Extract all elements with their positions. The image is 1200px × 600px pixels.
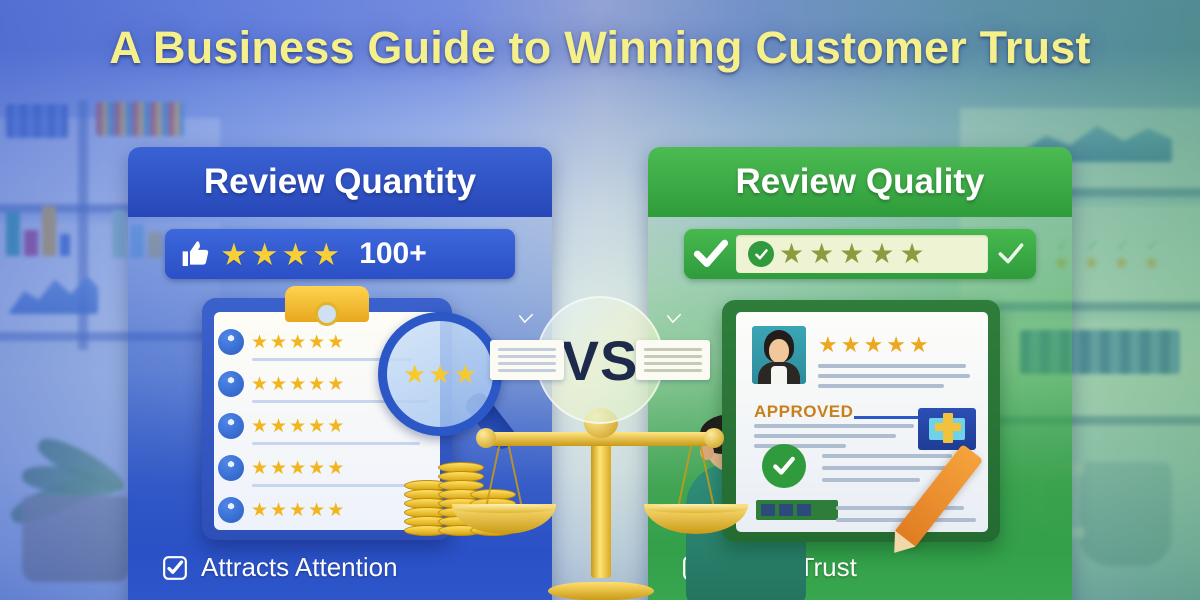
user-avatar-icon — [218, 413, 244, 439]
vs-badge: VS — [536, 296, 664, 424]
scales-tip — [704, 428, 724, 448]
star-icon: ★ — [308, 333, 325, 352]
check-solid-icon — [694, 239, 728, 269]
thumbnail-marker — [943, 413, 953, 443]
row-stars: ★★★★★ — [251, 459, 344, 478]
table-row: ★★★★★ — [218, 450, 432, 486]
star-icon: ★ — [327, 459, 344, 478]
text-lines-card-right — [636, 340, 710, 380]
magnified-stars: ★ ★ ★ — [403, 361, 477, 387]
star-icon: ★ — [289, 375, 306, 394]
text-line — [644, 355, 702, 358]
text-line — [644, 362, 702, 365]
document-stars: ★ ★ ★ ★ ★ — [818, 334, 929, 356]
text-line — [754, 424, 914, 428]
scales-string — [486, 444, 501, 505]
star-icon: ★ — [327, 417, 344, 436]
star-icon: ★ — [327, 333, 344, 352]
text-line — [818, 374, 970, 378]
star-icon: ★ — [327, 501, 344, 520]
panel-heading-quantity: Review Quantity — [128, 147, 552, 217]
star-icon: ★ — [270, 459, 287, 478]
star-icon: ★ — [289, 417, 306, 436]
star-icon: ★ — [308, 459, 325, 478]
infographic-canvas: ✓ ✓ ✓ ✓ ★ ★ ★ ★ A Business Guide to Winn… — [0, 0, 1200, 600]
scales-string — [678, 444, 693, 505]
star-icon: ★ — [251, 459, 268, 478]
star-icon: ★ — [251, 239, 279, 270]
star-icon: ★ — [312, 239, 340, 270]
star-icon: ★ — [270, 375, 287, 394]
text-line — [754, 434, 896, 438]
star-icon: ★ — [308, 375, 325, 394]
star-icon: ★ — [869, 240, 894, 268]
text-lines-card-left — [490, 340, 564, 380]
scales-base — [548, 582, 654, 600]
row-stars: ★★★★★ — [251, 501, 344, 520]
row-stars: ★★★★★ — [251, 417, 344, 436]
text-line — [818, 384, 944, 388]
star-icon: ★ — [909, 334, 929, 356]
user-avatar-icon — [218, 455, 244, 481]
checkbox-icon — [162, 555, 188, 581]
text-line — [644, 369, 702, 372]
row-stars: ★★★★★ — [251, 333, 344, 352]
check-outline-icon — [996, 241, 1026, 267]
star-icon: ★ — [251, 501, 268, 520]
star-icon: ★ — [886, 334, 906, 356]
star-icon: ★ — [403, 361, 426, 387]
review-document-icon: ★ ★ ★ ★ ★ APPROVED — [722, 300, 1000, 542]
user-avatar-icon — [218, 371, 244, 397]
star-icon: ★ — [251, 417, 268, 436]
tick-mark-icon — [518, 314, 534, 324]
table-row: ★★★★★ — [218, 492, 432, 528]
star-icon: ★ — [270, 333, 287, 352]
row-stars: ★★★★★ — [251, 375, 344, 394]
star-icon: ★ — [308, 501, 325, 520]
check-circle-icon — [748, 241, 774, 267]
text-line — [754, 444, 846, 448]
star-icon: ★ — [289, 459, 306, 478]
star-icon: ★ — [220, 239, 248, 270]
scales-string — [508, 444, 523, 505]
star-icon: ★ — [289, 501, 306, 520]
image-thumbnail-icon — [918, 408, 976, 450]
star-icon: ★ — [270, 417, 287, 436]
text-line — [498, 369, 556, 372]
text-line — [644, 348, 702, 351]
quantity-stars: ★ ★ ★ ★ — [220, 239, 340, 270]
star-icon: ★ — [454, 361, 477, 387]
star-icon: ★ — [327, 375, 344, 394]
star-icon: ★ — [839, 240, 864, 268]
star-icon: ★ — [779, 240, 804, 268]
quality-rating-badge: ★ ★ ★ ★ ★ — [684, 229, 1036, 279]
text-line — [498, 355, 556, 358]
star-icon: ★ — [809, 240, 834, 268]
user-avatar-icon — [218, 329, 244, 355]
clipboard-hole — [315, 302, 339, 326]
star-icon: ★ — [251, 333, 268, 352]
quality-star-box: ★ ★ ★ ★ ★ — [736, 235, 988, 273]
quantity-benefit-list: Attracts Attention Indicates Popularity — [162, 552, 428, 600]
thumbs-up-icon — [179, 238, 213, 270]
progress-bar — [756, 500, 838, 520]
approved-stamp: APPROVED — [754, 402, 853, 422]
progress-segment — [797, 504, 811, 516]
scales-string — [700, 444, 715, 505]
progress-segment — [779, 504, 793, 516]
star-icon: ★ — [289, 333, 306, 352]
progress-segment — [761, 504, 775, 516]
thumbnail-card — [929, 418, 965, 440]
star-icon: ★ — [251, 375, 268, 394]
text-line — [498, 362, 556, 365]
user-avatar-icon — [218, 497, 244, 523]
list-item: Attracts Attention — [162, 552, 428, 583]
text-line — [498, 348, 556, 351]
portrait-face — [769, 339, 789, 363]
check-circle-icon — [762, 444, 806, 488]
star-icon: ★ — [863, 334, 883, 356]
review-count-label: 100+ — [359, 237, 427, 271]
star-icon: ★ — [428, 361, 451, 387]
star-icon: ★ — [899, 240, 924, 268]
balance-scales-icon — [470, 398, 730, 600]
text-line — [252, 442, 420, 445]
tick-mark-icon — [666, 314, 682, 324]
panel-heading-quality: Review Quality — [648, 147, 1072, 217]
text-line — [818, 364, 966, 368]
portrait-shirt — [771, 366, 787, 384]
page-title: A Business Guide to Winning Customer Tru… — [0, 22, 1200, 74]
list-item-label: Attracts Attention — [201, 552, 398, 583]
star-icon: ★ — [270, 501, 287, 520]
text-line — [822, 478, 920, 482]
portrait-icon — [752, 326, 806, 384]
scales-post — [591, 428, 611, 578]
text-line — [822, 454, 952, 458]
star-icon: ★ — [282, 239, 310, 270]
star-icon: ★ — [308, 417, 325, 436]
quantity-rating-badge: ★ ★ ★ ★ 100+ — [165, 229, 515, 279]
text-line — [252, 484, 424, 487]
star-icon: ★ — [841, 334, 861, 356]
approved-underline — [854, 416, 918, 419]
star-icon: ★ — [818, 334, 838, 356]
scales-tip — [476, 428, 496, 448]
